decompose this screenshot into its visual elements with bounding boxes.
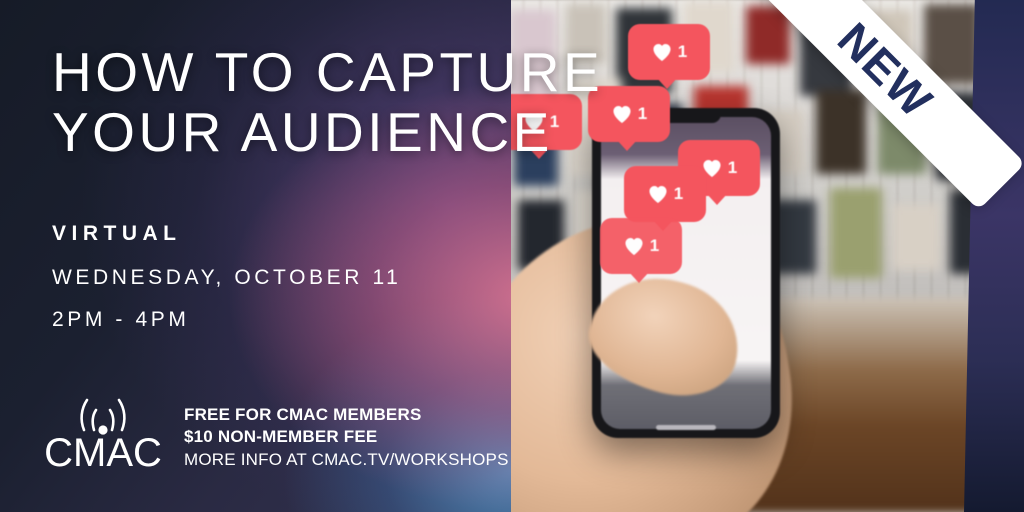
like-count: 1 — [674, 184, 683, 204]
footer: CMAC FREE FOR CMAC MEMBERS $10 NON-MEMBE… — [44, 390, 509, 471]
like-count: 1 — [638, 104, 647, 124]
pricing-line-2: $10 NON-MEMBER FEE — [184, 426, 509, 448]
event-date: WEDNESDAY, OCTOBER 11 — [52, 266, 401, 290]
like-count: 1 — [650, 236, 659, 256]
like-badge: 1 — [624, 166, 706, 222]
headline-line-2: YOUR AUDIENCE — [52, 102, 603, 162]
like-badge: 1 — [600, 218, 682, 274]
like-count: 1 — [728, 158, 737, 178]
cmac-logo-mark: CMAC — [44, 390, 162, 470]
heart-icon — [647, 184, 669, 204]
event-format: VIRTUAL — [52, 222, 401, 246]
pricing-line-1: FREE FOR CMAC MEMBERS — [184, 404, 509, 426]
like-count: 1 — [678, 42, 687, 62]
heart-icon — [651, 42, 673, 62]
page-title: HOW TO CAPTURE YOUR AUDIENCE — [52, 42, 603, 162]
heart-icon — [611, 104, 633, 124]
promo-poster: 1 1 1 1 1 — [0, 0, 1024, 512]
like-badge: 1 — [628, 24, 710, 80]
phone-home-indicator — [656, 425, 716, 430]
heart-icon — [623, 236, 645, 256]
pricing-info: FREE FOR CMAC MEMBERS $10 NON-MEMBER FEE… — [184, 390, 509, 471]
event-time: 2PM - 4PM — [52, 308, 401, 332]
event-details: VIRTUAL WEDNESDAY, OCTOBER 11 2PM - 4PM — [52, 222, 401, 332]
cmac-logo: CMAC — [44, 390, 162, 470]
more-info-line: MORE INFO AT CMAC.TV/WORKSHOPS — [184, 448, 509, 471]
cmac-wordmark: CMAC — [44, 431, 162, 470]
headline-line-1: HOW TO CAPTURE — [52, 41, 603, 103]
